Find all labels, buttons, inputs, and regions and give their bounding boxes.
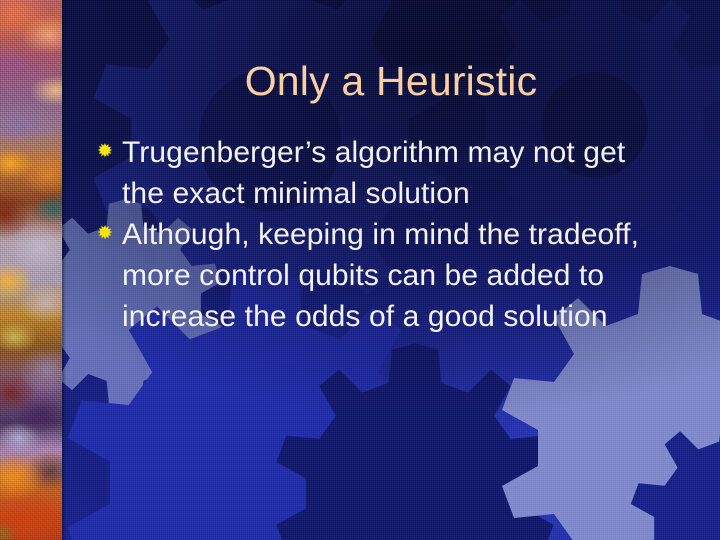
starburst-bullet-icon [98, 143, 112, 157]
presentation-slide: Only a Heuristic Trugenberger’s algorith… [0, 0, 720, 540]
strip-noise-overlay [0, 0, 62, 540]
slide-title: Only a Heuristic [62, 58, 720, 104]
bullet-item: Trugenberger’s algorithm may not get the… [98, 132, 698, 214]
bullet-text: Trugenberger’s algorithm may not get the… [122, 132, 698, 214]
bullet-line: increase the odds of a good solution [122, 296, 698, 337]
bullet-text: Although, keeping in mind the tradeoff, … [122, 214, 698, 337]
bullet-line: the exact minimal solution [122, 173, 698, 214]
slide-body: Trugenberger’s algorithm may not get the… [98, 132, 698, 337]
starburst-bullet-icon [98, 225, 112, 239]
bullet-item: Although, keeping in mind the tradeoff, … [98, 214, 698, 337]
bullet-line: Trugenberger’s algorithm may not get [122, 132, 698, 173]
bullet-line: Although, keeping in mind the tradeoff, [122, 214, 698, 255]
bullet-line: more control qubits can be added to [122, 255, 698, 296]
left-decorative-strip [0, 0, 62, 540]
